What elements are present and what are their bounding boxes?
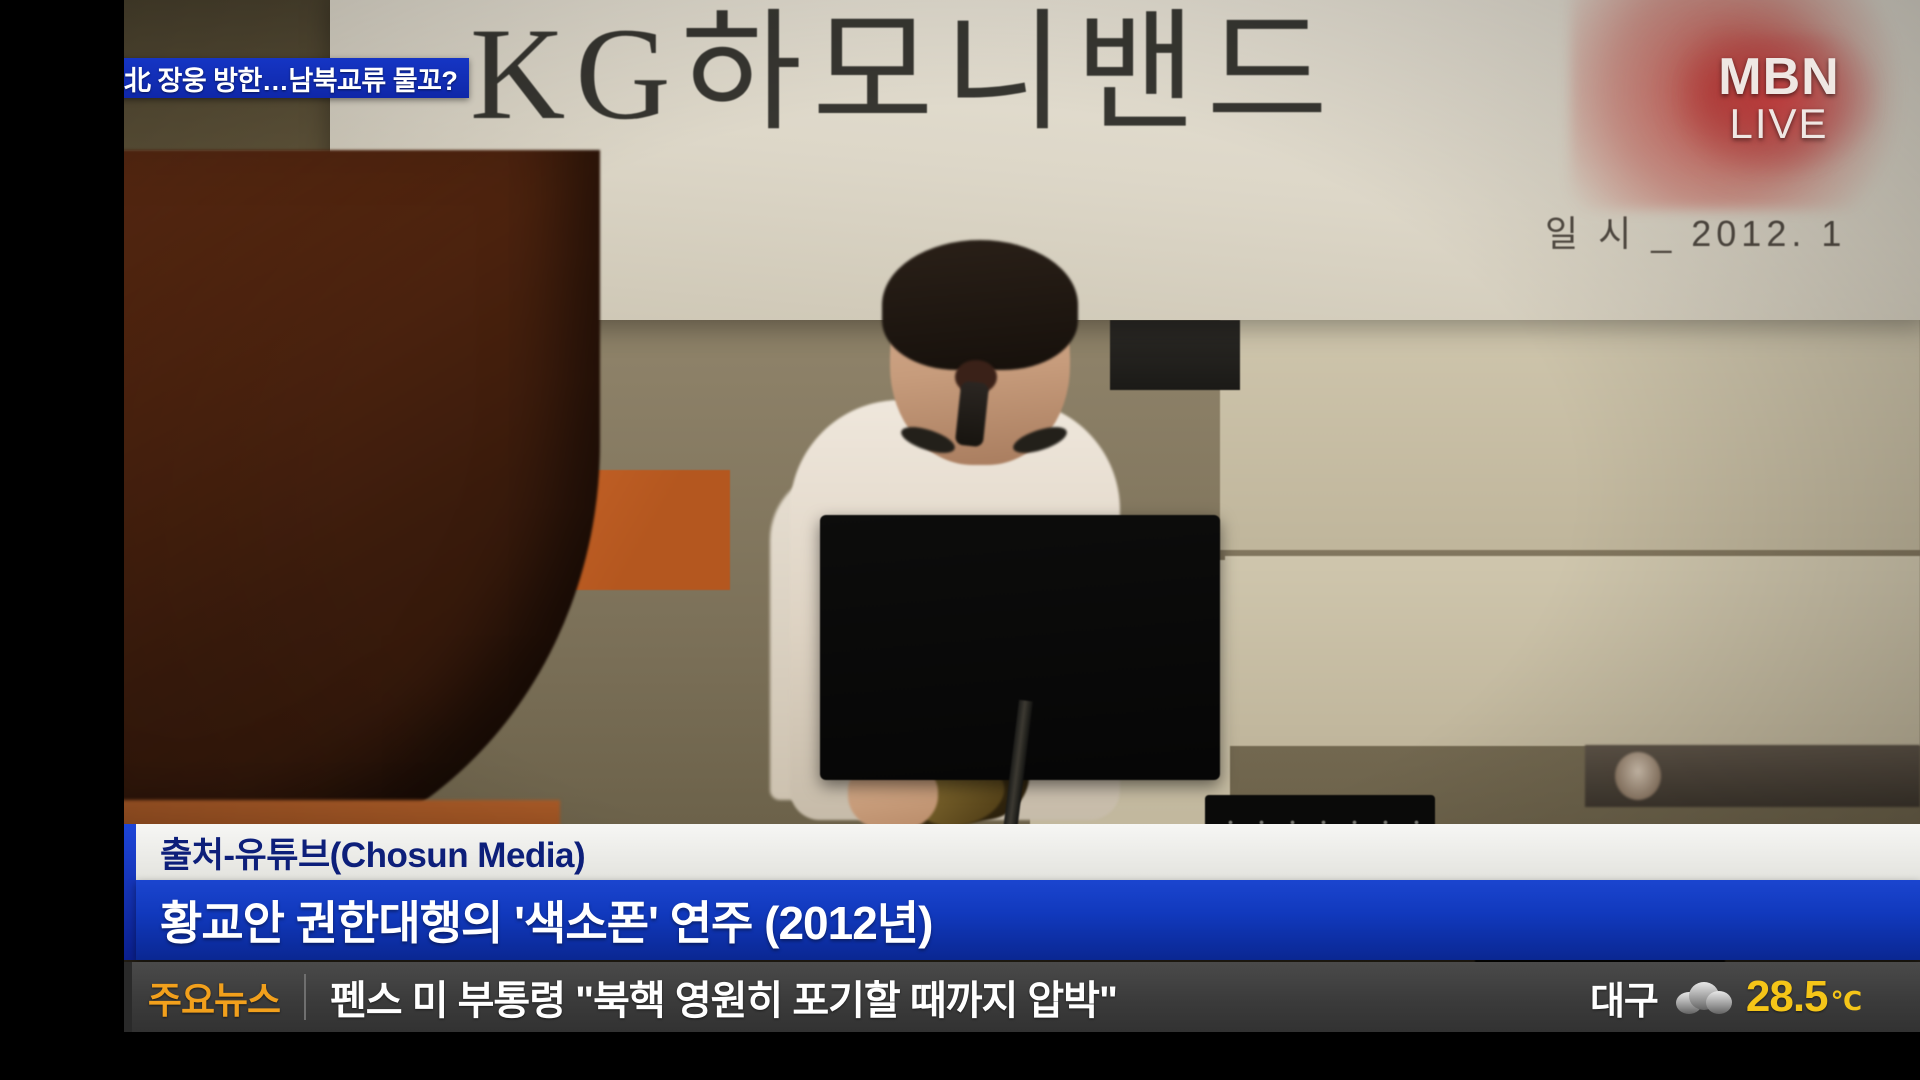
broadcast-screen: KG하모니밴드 일 시 _ 2012. 1: [0, 0, 1920, 1080]
wall-panel-upper-right: [1220, 310, 1920, 550]
source-label: 출처-유튜브(Chosun Media): [160, 827, 585, 878]
weather-widget: 대구 28.5 ℃: [1590, 970, 1862, 1025]
headline-text: 황교안 권한대행의 '색소폰' 연주 (2012년): [160, 887, 932, 953]
ticker-divider: [304, 974, 306, 1020]
letterbox-left: [0, 0, 124, 1080]
weather-temperature: 28.5: [1746, 972, 1828, 1022]
ticker-headline: 펜스 미 부통령 "북핵 영원히 포기할 때까지 압박": [330, 968, 1590, 1026]
channel-logo-text: MBN: [1718, 53, 1839, 102]
news-ticker: 주요뉴스 펜스 미 부통령 "북핵 영원히 포기할 때까지 압박" 대구 28.…: [124, 962, 1920, 1032]
letterbox-bottom: [0, 1032, 1920, 1080]
wall-recess-dark: [1110, 320, 1240, 390]
ticker-label: 주요뉴스: [124, 970, 304, 1024]
stage-banner-date: 일 시 _ 2012. 1: [1545, 205, 1846, 257]
lower-third-accent-bar: [124, 824, 136, 960]
cloud-icon: [1676, 980, 1734, 1014]
source-bar: 출처-유튜브(Chosun Media): [136, 824, 1920, 880]
headline-bar: 황교안 권한대행의 '색소폰' 연주 (2012년): [136, 880, 1920, 960]
mbn-live-bug: MBN LIVE: [1694, 44, 1864, 154]
weather-unit: ℃: [1831, 986, 1862, 1017]
wall-panel-lower-right: [1225, 556, 1920, 746]
stage-banner-title: KG하모니밴드: [470, 0, 1338, 157]
ticker-left-edge: [124, 962, 132, 1032]
topic-strap: 北 장웅 방한…남북교류 물꼬?: [112, 58, 469, 98]
weather-city: 대구: [1590, 970, 1658, 1025]
topic-strap-text: 北 장웅 방한…남북교류 물꼬?: [124, 59, 457, 98]
performer-hair: [882, 240, 1078, 370]
background-person-face: [1615, 752, 1661, 800]
live-badge: LIVE: [1729, 103, 1828, 145]
